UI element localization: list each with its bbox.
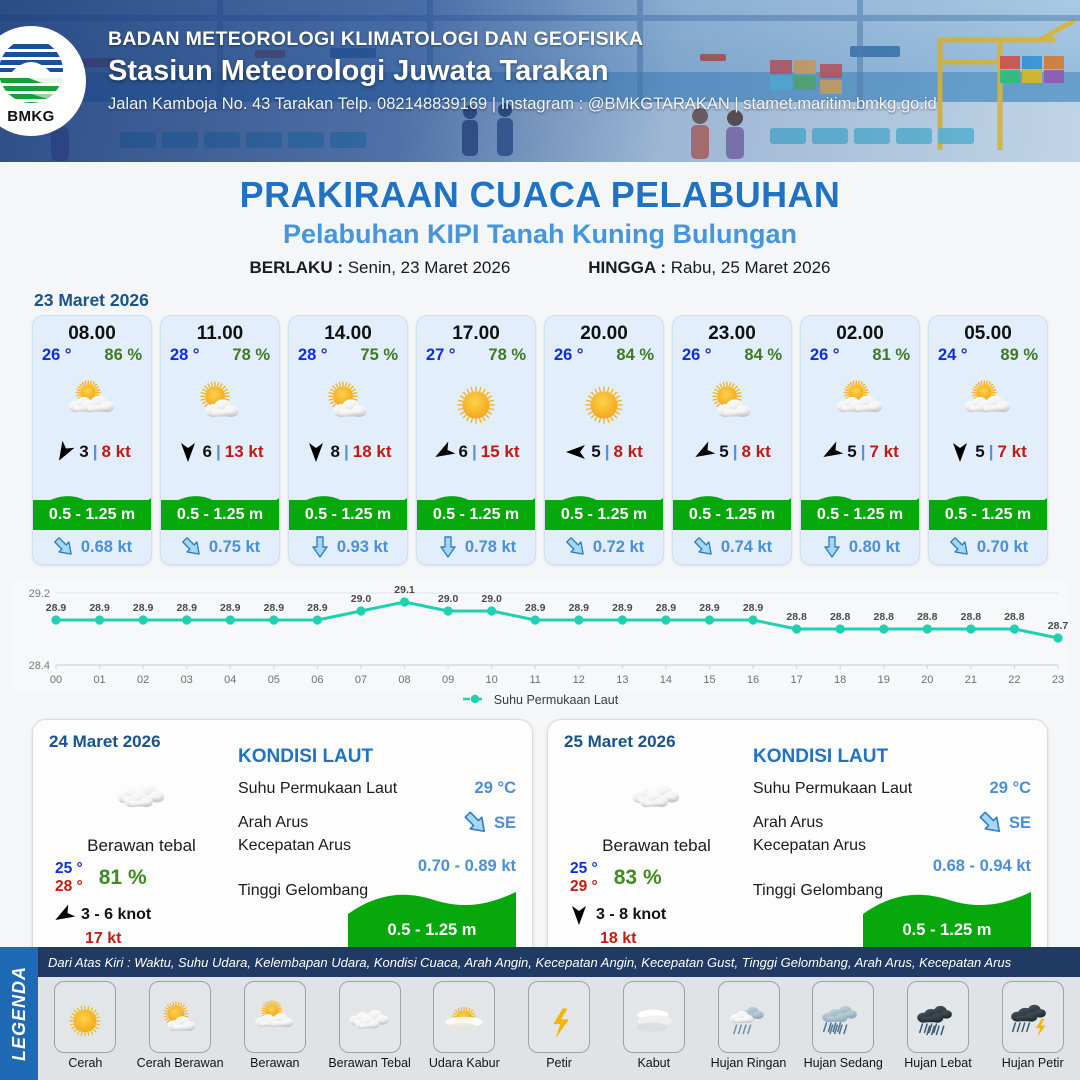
svg-text:28.9: 28.9 [264,602,285,614]
contact-line: Jalan Kamboja No. 43 Tarakan Telp. 08214… [108,95,937,114]
legend-note-strip: Dari Atas Kiri : Waktu, Suhu Udara, Kele… [38,947,1080,977]
card-time: 02.00 [801,323,919,345]
weather-icon-berawan-tebal [626,767,688,820]
card-wave-zone: 0.5 - 1.25 m 0.72 kt [545,467,663,564]
svg-text:15: 15 [703,674,715,686]
card-current: 0.78 kt [417,530,535,564]
card-temp-humidity: 24 ° 89 % [929,345,1047,365]
day-wind-range: 3 - 6 knot [81,906,151,924]
sst-chart-svg: 29.228.400010203040506070809101112131415… [10,579,1070,691]
current-speed-row: Kecepatan Arus 0.68 - 0.94 kt [753,837,1031,876]
forecast-card[interactable]: 17.00 27 ° 78 % 6 | [416,315,536,565]
day-condition: Berawan tebal [49,836,234,856]
legend-item-icon-box [149,981,211,1053]
card-current: 0.68 kt [33,530,151,564]
card-humidity: 86 % [104,346,142,365]
card-wind: 6 | 13 kt [161,437,279,467]
day-humidity: 83 % [614,866,662,890]
card-gust-speed: 7 kt [869,442,898,462]
day-wave-height: 0.5 - 1.25 m [348,921,516,940]
weather-icon-berawan [829,374,891,427]
card-wave-height: 0.5 - 1.25 m [49,506,135,524]
card-weather-icon [545,365,663,435]
legend-item-label: Cerah Berawan [137,1056,224,1070]
current-direction-value-group: SE [462,809,516,837]
day-temp-min: 25 ° [55,860,83,878]
card-wave-height: 0.5 - 1.25 m [689,506,775,524]
card-temp-humidity: 26 ° 84 % [673,345,791,365]
legend-item-icon-box [1002,981,1064,1053]
card-wind-dir-value: 5 [719,442,728,462]
svg-text:28.9: 28.9 [220,602,241,614]
svg-text:29.0: 29.0 [438,593,459,605]
card-wave-height: 0.5 - 1.25 m [945,506,1031,524]
weather-icon-cerah-berawan [154,995,206,1039]
card-current: 0.72 kt [545,530,663,564]
card-gust-speed: 18 kt [353,442,392,462]
svg-text:18: 18 [834,674,846,686]
legend-item-icon-box [54,981,116,1053]
card-wave-height: 0.5 - 1.25 m [433,506,519,524]
svg-text:28.7: 28.7 [1048,620,1069,632]
svg-text:28.8: 28.8 [1004,611,1025,623]
card-current-speed: 0.68 kt [81,538,132,557]
weather-icon-petir [533,995,585,1039]
svg-text:28.9: 28.9 [569,602,590,614]
card-wave-zone: 0.5 - 1.25 m 0.75 kt [161,467,279,564]
card-wave-band: 0.5 - 1.25 m [673,500,791,530]
page-title: PRAKIRAAN CUACA PELABUHAN [0,174,1080,216]
day-left-column: 25 Maret 2026 [564,732,749,956]
legenda-title: LEGENDA [9,966,30,1061]
card-temp-humidity: 27 ° 78 % [417,345,535,365]
card-wind: 5 | 8 kt [673,437,791,467]
daily-summary-row: 24 Maret 2026 [0,707,1080,969]
svg-text:08: 08 [398,674,410,686]
forecast-card[interactable]: 11.00 28 ° 78 % [160,315,280,565]
daily-summary-panel[interactable]: 25 Maret 2026 [547,719,1048,969]
svg-text:19: 19 [878,674,890,686]
weather-icon-berawan [249,995,301,1039]
card-time: 17.00 [417,323,535,345]
forecast-card[interactable]: 14.00 28 ° 75 % [288,315,408,565]
legend-item-icon-box [339,981,401,1053]
card-humidity: 78 % [232,346,270,365]
legend-marker-icon [462,693,488,707]
svg-text:28.9: 28.9 [307,602,328,614]
legend-item-label: Hujan Lebat [904,1056,971,1070]
validity-row: BERLAKU : Senin, 23 Maret 2026 HINGGA : … [0,258,1080,278]
card-temp-humidity: 28 ° 75 % [289,345,407,365]
weather-icon-hujan-ringan [723,995,775,1039]
svg-text:28.9: 28.9 [525,602,546,614]
day-wind: 3 - 8 knot [564,904,749,926]
card-wave-height: 0.5 - 1.25 m [305,506,391,524]
svg-text:28.8: 28.8 [961,611,982,623]
svg-text:28.9: 28.9 [89,602,110,614]
day-date: 25 Maret 2026 [564,732,749,752]
chart-legend-label: Suhu Permukaan Laut [494,693,618,707]
page-subtitle: Pelabuhan KIPI Tanah Kuning Bulungan [0,219,1080,250]
svg-text:28.9: 28.9 [743,602,764,614]
sst-row: Suhu Permukaan Laut 29 °C [753,779,1031,798]
bmkg-logo-icon [0,38,68,108]
card-weather-icon [801,365,919,435]
day-weather-icon [49,760,234,826]
wind-direction-icon [565,441,587,463]
svg-text:13: 13 [616,674,628,686]
current-direction-label: Arah Arus [238,814,308,832]
card-wave-zone: 0.5 - 1.25 m 0.78 kt [417,467,535,564]
card-temperature: 28 ° [298,346,328,365]
card-wind: 6 | 15 kt [417,437,535,467]
svg-text:05: 05 [268,674,280,686]
current-direction-icon [462,809,490,837]
card-current: 0.93 kt [289,530,407,564]
card-current-speed: 0.74 kt [721,538,772,557]
svg-text:01: 01 [93,674,105,686]
wind-direction-icon [568,904,590,926]
card-humidity: 89 % [1000,346,1038,365]
card-gust-speed: 13 kt [225,442,264,462]
legend-item-label: Hujan Ringan [711,1056,787,1070]
weather-icon-cerah-berawan [701,374,763,427]
day-sea-conditions: KONDISI LAUT Suhu Permukaan Laut 29 °C A… [234,732,516,956]
current-direction-icon [948,535,972,559]
card-wave-band: 0.5 - 1.25 m [161,500,279,530]
forecast-card[interactable]: 02.00 26 ° 81 % [800,315,920,565]
day-wave-graphic: 0.5 - 1.25 m [348,888,516,950]
current-direction-row: Arah Arus SE [753,809,1031,837]
wind-direction-icon [821,441,843,463]
svg-text:04: 04 [224,674,236,686]
card-wind-separator: | [472,442,477,462]
wind-direction-icon [177,441,199,463]
card-temp-humidity: 28 ° 78 % [161,345,279,365]
legend-section: LEGENDA Dari Atas Kiri : Waktu, Suhu Uda… [0,947,1080,1080]
weather-icon-berawan [61,374,123,427]
card-wind-dir-value: 6 [459,442,468,462]
card-weather-icon [161,365,279,435]
card-temperature: 26 ° [810,346,840,365]
svg-text:29.2: 29.2 [29,588,50,600]
forecast-card[interactable]: 05.00 24 ° 89 % [928,315,1048,565]
current-direction-icon [564,535,588,559]
card-time: 08.00 [33,323,151,345]
day-temps: 25 ° 28 ° 81 % [49,860,234,896]
card-temp-humidity: 26 ° 86 % [33,345,151,365]
card-weather-icon [33,365,151,435]
card-temp-humidity: 26 ° 81 % [801,345,919,365]
svg-text:28.8: 28.8 [786,611,807,623]
card-wave-zone: 0.5 - 1.25 m 0.80 kt [801,467,919,564]
legend-item-icon-box [433,981,495,1053]
sst-label: Suhu Permukaan Laut [238,780,397,798]
card-wave-zone: 0.5 - 1.25 m 0.93 kt [289,467,407,564]
sea-conditions-title: KONDISI LAUT [238,746,516,768]
current-direction-label: Arah Arus [753,814,823,832]
card-current-speed: 0.70 kt [977,538,1028,557]
svg-text:17: 17 [790,674,802,686]
legend-item-label: Berawan [250,1056,299,1070]
svg-text:28.8: 28.8 [830,611,851,623]
card-weather-icon [929,365,1047,435]
legend-item: Udara Kabur [417,981,512,1070]
svg-text:07: 07 [355,674,367,686]
svg-text:11: 11 [530,674,541,686]
card-humidity: 84 % [744,346,782,365]
svg-text:29.1: 29.1 [394,584,415,596]
svg-text:29.0: 29.0 [481,593,502,605]
header-text-block: BADAN METEOROLOGI KLIMATOLOGI DAN GEOFIS… [108,28,937,114]
legend-item-icon-box [718,981,780,1053]
day-temp-min: 25 ° [570,860,598,878]
sst-value: 29 °C [990,779,1031,798]
station-name: Stasiun Meteorologi Juwata Tarakan [108,55,937,88]
legend-item-label: Petir [546,1056,572,1070]
card-wave-band: 0.5 - 1.25 m [801,500,919,530]
card-wave-height: 0.5 - 1.25 m [177,506,263,524]
legend-item: Hujan Ringan [701,981,796,1070]
card-weather-icon [673,365,791,435]
legend-item-icon-box [623,981,685,1053]
weather-icon-cerah [445,374,507,427]
card-wave-zone: 0.5 - 1.25 m 0.68 kt [33,467,151,564]
legend-item: Petir [512,981,607,1070]
valid-to-label: HINGGA : [588,258,666,277]
valid-from: BERLAKU : Senin, 23 Maret 2026 [249,258,510,278]
weather-icon-cerah [573,374,635,427]
day-wave-height: 0.5 - 1.25 m [863,921,1031,940]
card-wave-zone: 0.5 - 1.25 m 0.70 kt [929,467,1047,564]
card-temperature: 28 ° [170,346,200,365]
card-humidity: 84 % [616,346,654,365]
legend-item-icon-box [244,981,306,1053]
current-speed-label: Kecepatan Arus [238,837,516,855]
card-current-speed: 0.93 kt [337,538,388,557]
svg-text:03: 03 [181,674,193,686]
card-wave-band: 0.5 - 1.25 m [545,500,663,530]
card-weather-icon [289,365,407,435]
legend-item-icon-box [528,981,590,1053]
weather-icon-hujan-sedang [817,995,869,1039]
card-time: 05.00 [929,323,1047,345]
agency-name: BADAN METEOROLOGI KLIMATOLOGI DAN GEOFIS… [108,28,937,51]
forecast-card[interactable]: 23.00 26 ° 84 % [672,315,792,565]
current-speed-value: 0.70 - 0.89 kt [238,857,516,876]
weather-icon-hujan-lebat [912,995,964,1039]
card-gust-speed: 8 kt [613,442,642,462]
legend-icon-row: Cerah Cerah Berawan [38,977,1080,1080]
card-humidity: 75 % [360,346,398,365]
weather-icon-berawan [957,374,1019,427]
legend-item: Hujan Sedang [796,981,891,1070]
legend-item-label: Cerah [68,1056,102,1070]
wind-direction-icon [305,441,327,463]
legend-item: Berawan Tebal [322,981,417,1070]
card-wind-dir-value: 3 [79,442,88,462]
card-gust-speed: 15 kt [481,442,520,462]
wind-direction-icon [53,441,75,463]
forecast-card[interactable]: 20.00 26 ° 84 % 5 | [544,315,664,565]
weather-icon-hujan-petir [1007,995,1059,1039]
card-temp-humidity: 26 ° 84 % [545,345,663,365]
weather-icon-cerah-berawan [189,374,251,427]
daily-summary-panel[interactable]: 24 Maret 2026 [32,719,533,969]
day-temp-column: 25 ° 29 ° [570,860,598,896]
card-temperature: 27 ° [426,346,456,365]
card-wave-band: 0.5 - 1.25 m [929,500,1047,530]
card-wind: 3 | 8 kt [33,437,151,467]
wind-direction-icon [693,441,715,463]
card-temperature: 24 ° [938,346,968,365]
legend-item: Cerah [38,981,133,1070]
svg-text:28.9: 28.9 [699,602,720,614]
svg-text:21: 21 [965,674,977,686]
legend-item: Berawan [227,981,322,1070]
card-gust-speed: 8 kt [741,442,770,462]
wind-direction-icon [949,441,971,463]
current-direction-value-group: SE [977,809,1031,837]
card-weather-icon [417,365,535,435]
day-condition: Berawan tebal [564,836,749,856]
legend-item-label: Udara Kabur [429,1056,500,1070]
card-wind-separator: | [93,442,98,462]
valid-from-label: BERLAKU : [249,258,343,277]
day-gust: 18 kt [600,930,749,948]
svg-text:06: 06 [311,674,323,686]
sst-label: Suhu Permukaan Laut [753,780,912,798]
current-direction-icon [692,535,716,559]
current-direction-icon [180,535,204,559]
weather-icon-udara-kabur [438,995,490,1039]
svg-text:10: 10 [486,674,498,686]
current-speed-value: 0.68 - 0.94 kt [753,857,1031,876]
card-gust-speed: 7 kt [997,442,1026,462]
svg-text:22: 22 [1008,674,1020,686]
day-wind: 3 - 6 knot [49,904,234,926]
day-temp-max: 29 ° [570,878,598,896]
card-wind-separator: | [989,442,994,462]
svg-text:00: 00 [50,674,62,686]
svg-text:14: 14 [660,674,672,686]
svg-text:28.9: 28.9 [656,602,677,614]
svg-text:20: 20 [921,674,933,686]
card-time: 23.00 [673,323,791,345]
day-left-column: 24 Maret 2026 [49,732,234,956]
day-wind-range: 3 - 8 knot [596,906,666,924]
card-wind: 5 | 8 kt [545,437,663,467]
card-wind-dir-value: 5 [591,442,600,462]
day-humidity: 81 % [99,866,147,890]
card-wind: 5 | 7 kt [929,437,1047,467]
card-wind-dir-value: 8 [331,442,340,462]
svg-text:23: 23 [1052,674,1064,686]
card-wave-band: 0.5 - 1.25 m [33,500,151,530]
card-current-speed: 0.75 kt [209,538,260,557]
day-wave-graphic: 0.5 - 1.25 m [863,888,1031,950]
card-current: 0.74 kt [673,530,791,564]
card-wind-separator: | [216,442,221,462]
current-direction-icon [977,809,1005,837]
svg-text:28.4: 28.4 [29,660,50,672]
weather-icon-berawan-tebal [111,767,173,820]
card-humidity: 78 % [488,346,526,365]
card-wind-separator: | [344,442,349,462]
svg-text:29.0: 29.0 [351,593,372,605]
legend-item-icon-box [907,981,969,1053]
legend-note: Dari Atas Kiri : Waktu, Suhu Udara, Kele… [38,955,1011,970]
weather-icon-kabut [628,995,680,1039]
current-direction-icon [52,535,76,559]
day-weather-icon [564,760,749,826]
forecast-date-label: 23 Maret 2026 [34,290,1080,311]
legend-item: Kabut [606,981,701,1070]
svg-text:12: 12 [573,674,585,686]
sst-value: 29 °C [475,779,516,798]
current-speed-row: Kecepatan Arus 0.70 - 0.89 kt [238,837,516,876]
svg-text:28.9: 28.9 [133,602,154,614]
valid-from-value: Senin, 23 Maret 2026 [348,258,511,277]
weather-icon-cerah [59,995,111,1039]
card-humidity: 81 % [872,346,910,365]
card-wave-height: 0.5 - 1.25 m [817,506,903,524]
card-wind: 8 | 18 kt [289,437,407,467]
current-speed-label: Kecepatan Arus [753,837,1031,855]
svg-text:02: 02 [137,674,149,686]
card-current: 0.75 kt [161,530,279,564]
current-direction-value: SE [1009,814,1031,833]
legend-item: Cerah Berawan [133,981,228,1070]
weather-icon-cerah-berawan [317,374,379,427]
hourly-forecast-row: 08.00 26 ° 86 % [0,315,1080,565]
legend-item: Hujan Petir [985,981,1080,1070]
current-direction-row: Arah Arus SE [238,809,516,837]
card-wind-dir-value: 5 [975,442,984,462]
svg-text:09: 09 [442,674,454,686]
current-direction-icon [308,535,332,559]
card-wave-height: 0.5 - 1.25 m [561,506,647,524]
sea-conditions-title: KONDISI LAUT [753,746,1031,768]
day-temp-column: 25 ° 28 ° [55,860,83,896]
legend-item-label: Kabut [637,1056,670,1070]
weather-icon-berawan-tebal [344,995,396,1039]
card-time: 20.00 [545,323,663,345]
card-current: 0.70 kt [929,530,1047,564]
card-wave-zone: 0.5 - 1.25 m 0.74 kt [673,467,791,564]
card-temperature: 26 ° [682,346,712,365]
card-current: 0.80 kt [801,530,919,564]
valid-to: HINGGA : Rabu, 25 Maret 2026 [588,258,830,278]
day-gust: 17 kt [85,930,234,948]
forecast-card[interactable]: 08.00 26 ° 86 % [32,315,152,565]
card-wave-band: 0.5 - 1.25 m [417,500,535,530]
card-wind-separator: | [733,442,738,462]
chart-legend: Suhu Permukaan Laut [0,693,1080,707]
card-time: 14.00 [289,323,407,345]
valid-to-value: Rabu, 25 Maret 2026 [671,258,831,277]
page-header: BMKG BADAN METEOROLOGI KLIMATOLOGI DAN G… [0,0,1080,162]
day-wave-shape [348,888,516,950]
bmkg-logo-text: BMKG [0,108,68,125]
card-current-speed: 0.72 kt [593,538,644,557]
legend-item-label: Berawan Tebal [328,1056,410,1070]
card-wave-band: 0.5 - 1.25 m [289,500,407,530]
legenda-sidebar: LEGENDA [0,947,38,1080]
legend-item-icon-box [812,981,874,1053]
card-gust-speed: 8 kt [101,442,130,462]
legend-item-label: Hujan Petir [1002,1056,1064,1070]
